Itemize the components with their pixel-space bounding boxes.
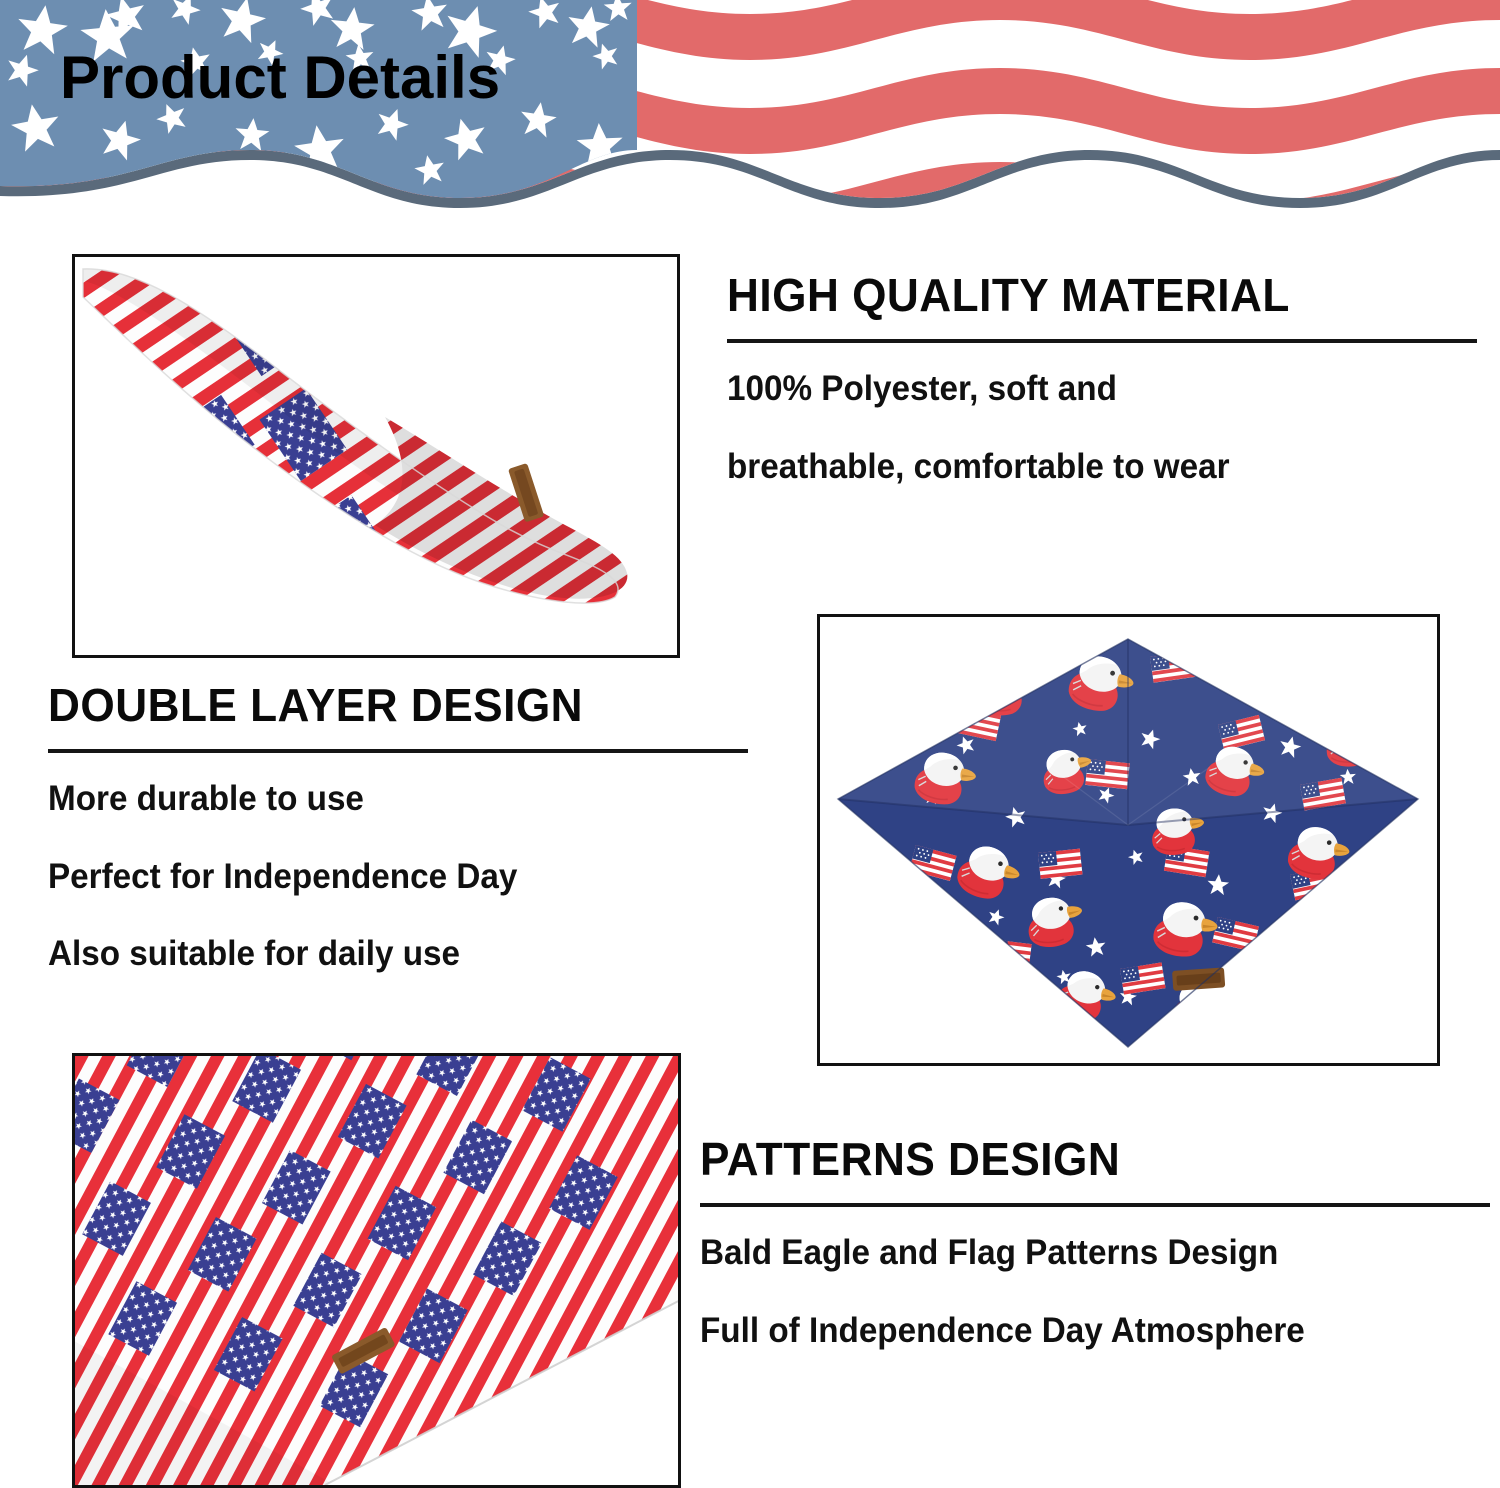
photo-rolled-flag-bandana — [72, 254, 680, 658]
feature-line: Perfect for Independence Day — [48, 859, 713, 895]
photo-eagle-bandana-folded — [817, 614, 1440, 1066]
banner-star-field — [0, 0, 637, 232]
feature-heading: DOUBLE LAYER DESIGN — [48, 682, 720, 729]
eagle-bandana-illustration — [820, 617, 1437, 1063]
feature-line: More durable to use — [48, 781, 713, 817]
feature-line: Bald Eagle and Flag Patterns Design — [700, 1235, 1451, 1271]
photo-flat-flag-bandana — [72, 1053, 681, 1488]
feature-lines: Bald Eagle and Flag Patterns Design Full… — [700, 1235, 1490, 1348]
page-title: Product Details — [60, 48, 500, 108]
heading-rule — [727, 339, 1477, 343]
feature-lines: 100% Polyester, soft and breathable, com… — [727, 371, 1477, 484]
heading-rule — [48, 749, 748, 753]
feature-block-high-quality-material: HIGH QUALITY MATERIAL 100% Polyester, so… — [727, 272, 1477, 484]
feature-line: Also suitable for daily use — [48, 936, 713, 972]
flat-bandana-illustration — [75, 1056, 678, 1485]
flag-banner-header: Product Details — [0, 0, 1500, 232]
feature-line: breathable, comfortable to wear — [727, 449, 1440, 485]
feature-line: Full of Independence Day Atmosphere — [700, 1313, 1451, 1349]
product-details-page: Product Details — [0, 0, 1500, 1487]
feature-line: 100% Polyester, soft and — [727, 371, 1440, 407]
heading-rule — [700, 1203, 1490, 1207]
feature-heading: HIGH QUALITY MATERIAL — [727, 272, 1447, 319]
rolled-bandana-illustration — [75, 257, 677, 655]
feature-block-patterns-design: PATTERNS DESIGN Bald Eagle and Flag Patt… — [700, 1136, 1490, 1348]
flag-banner-graphic — [0, 0, 1500, 232]
feature-heading: PATTERNS DESIGN — [700, 1136, 1458, 1183]
feature-block-double-layer-design: DOUBLE LAYER DESIGN More durable to use … — [48, 682, 748, 972]
feature-lines: More durable to use Perfect for Independ… — [48, 781, 748, 972]
